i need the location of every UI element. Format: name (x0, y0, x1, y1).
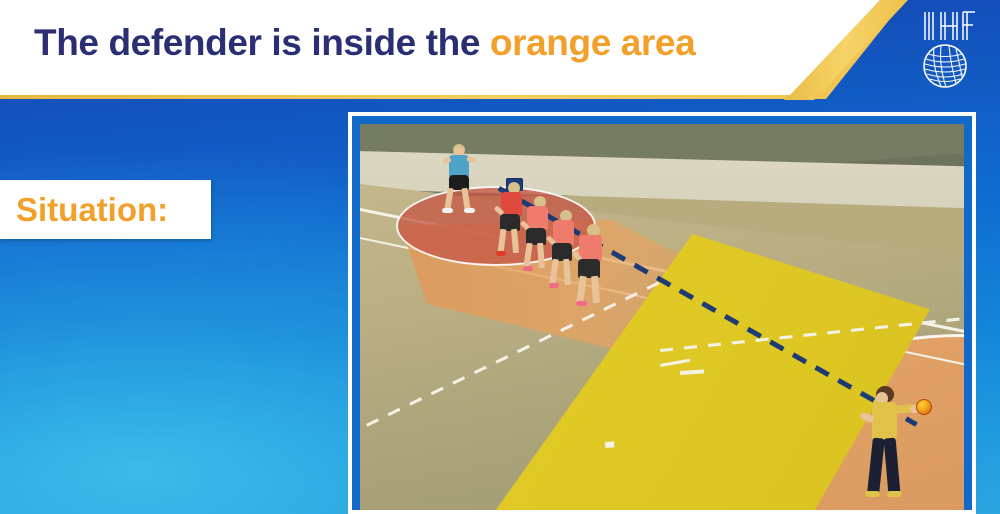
attacker-trouser-left (867, 438, 885, 495)
defender-4-leg-right (591, 276, 600, 303)
player-goalkeeper (442, 144, 476, 214)
header-banner: The defender is inside the orange area (0, 0, 1000, 100)
defender-1-leg-right (511, 229, 519, 253)
situation-label: Situation: (0, 191, 168, 229)
handball-ball (916, 399, 932, 415)
defender-1-shirt (501, 192, 522, 216)
defender-2-shirt (527, 206, 548, 230)
goalkeeper-shoe-right (464, 208, 475, 213)
court-illustration-inner-border (352, 116, 972, 510)
defender-4-leg-left (576, 276, 587, 304)
player-attacker (860, 386, 922, 504)
defender-3-shoe (549, 283, 559, 288)
defender-2-leg-left (523, 243, 532, 269)
attacker-shoe-left (865, 491, 880, 497)
attacker-shoe-right (887, 491, 902, 497)
defender-3-leg-right (563, 259, 571, 285)
defender-3-leg-left (549, 259, 559, 286)
defender-2-shoe (523, 266, 533, 271)
attacker-trouser-right (884, 438, 901, 495)
defender-1-shoe (496, 251, 506, 256)
slide-canvas: The defender is inside the orange area (0, 0, 1000, 514)
court-illustration-frame (348, 112, 976, 514)
situation-label-box: Situation: (0, 180, 211, 239)
floor-mark-2 (605, 441, 614, 448)
goalkeeper-leg-left (444, 188, 453, 211)
defender-1-leg-left (498, 229, 507, 254)
goalkeeper-shoe-left (442, 208, 453, 213)
page-title-prefix: The defender is inside the (34, 22, 490, 63)
page-title-highlight: orange area (490, 22, 695, 63)
ihf-logo (912, 6, 978, 92)
goalkeeper-leg-right (461, 188, 470, 211)
defender-3-shirt (553, 220, 574, 245)
defender-2-leg-right (537, 243, 545, 268)
player-defender-4 (572, 224, 608, 310)
defender-4-shoe (576, 301, 587, 306)
page-title: The defender is inside the orange area (34, 22, 695, 64)
handball-court-illustration (360, 124, 964, 510)
